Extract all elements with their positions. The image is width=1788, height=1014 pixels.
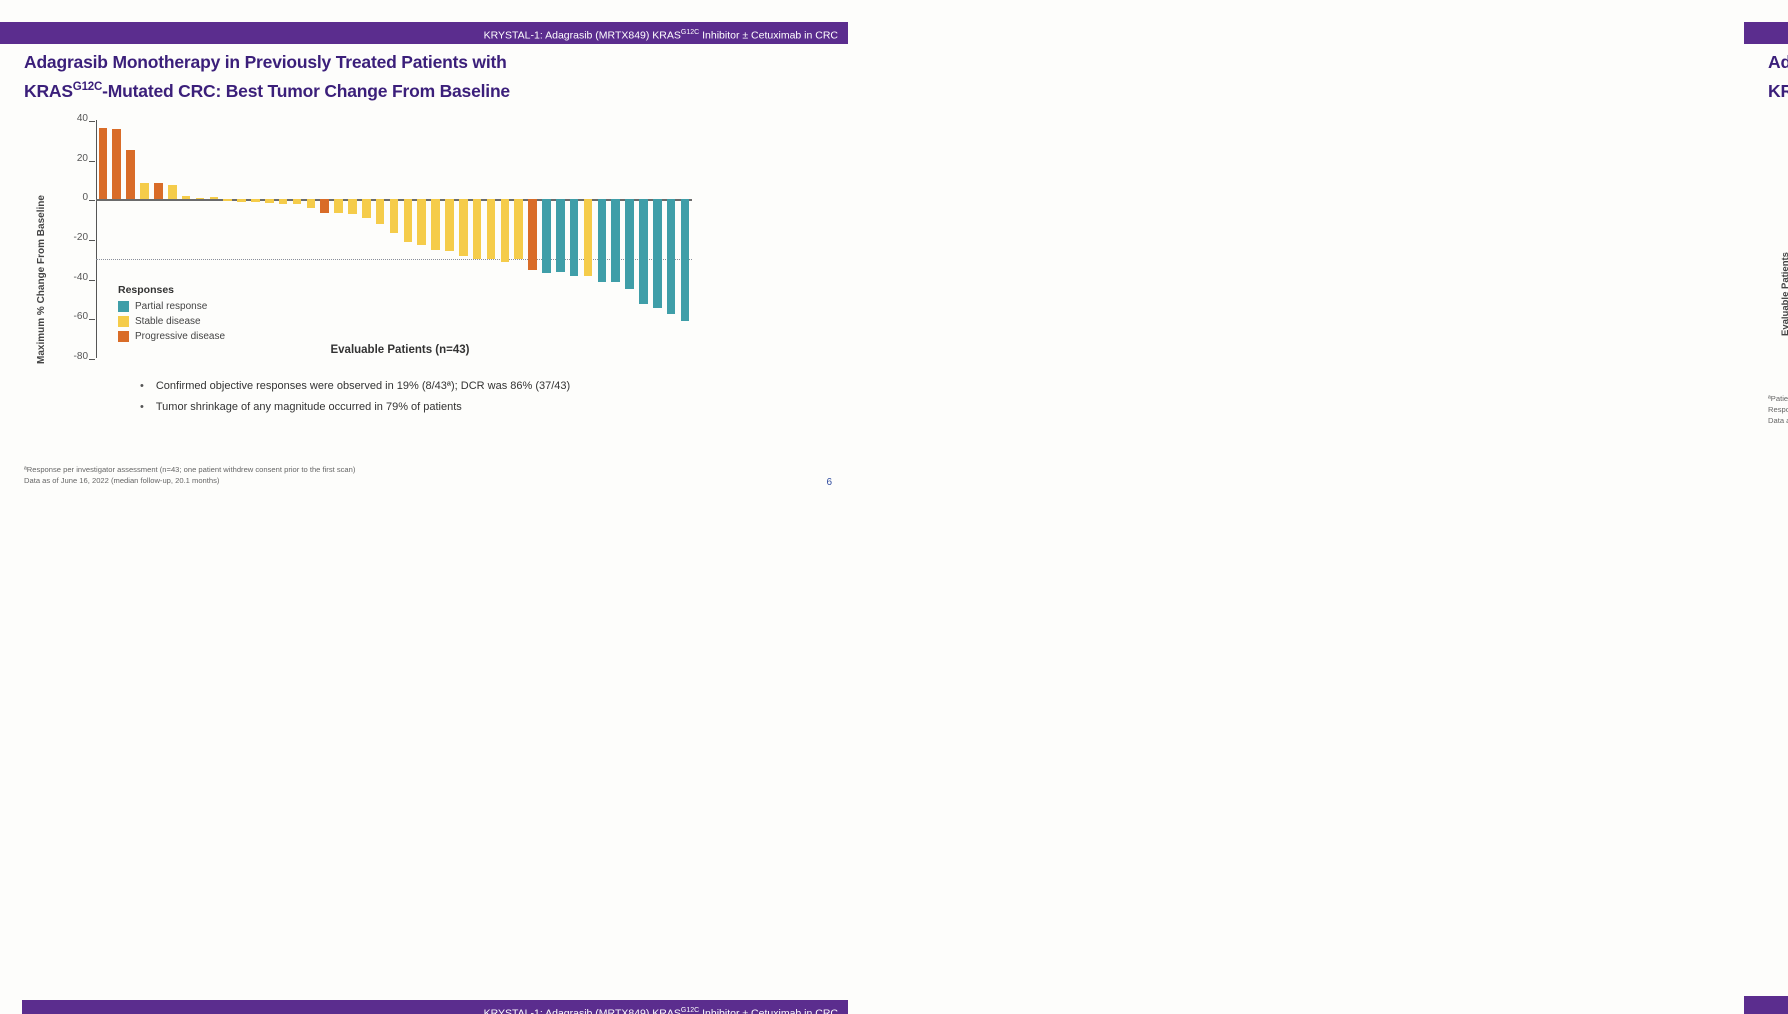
waterfall-bar [598, 199, 607, 282]
swimmer-row [1780, 177, 1788, 183]
swimmer-row [1780, 236, 1788, 242]
waterfall-bar [528, 199, 537, 269]
swimmer-row [1780, 228, 1788, 234]
waterfall-bar [473, 199, 482, 259]
waterfall-bar [307, 199, 316, 208]
swimmer-plot: Evaluable Patients 03691215182124 [1780, 106, 1788, 386]
waterfall-bar [487, 199, 496, 259]
swimmer-row [1780, 169, 1788, 175]
waterfall-bar [570, 199, 579, 275]
swimmer-row [1780, 251, 1788, 257]
slide-panel-10: KRYSTAL-1: Adagrasib (MRTX849) KRASG12C … [0, 500, 866, 1014]
waterfall-bar [168, 185, 177, 199]
title-line-2: KRASG12C-Mutated CRC: Best Tumor Change … [24, 75, 828, 104]
slide-10-banner: KRYSTAL-1: Adagrasib (MRTX849) KRASG12C … [22, 1000, 848, 1014]
evaluable-patients-label-mono: Evaluable Patients (n=43) [230, 344, 570, 356]
waterfall-bar [362, 199, 371, 217]
swimmer-row [1780, 147, 1788, 153]
swimmer-row [1780, 265, 1788, 271]
bullets-mono: Confirmed objective responses were obser… [140, 380, 760, 422]
swimmer-row [1780, 273, 1788, 279]
waterfall-bar [126, 150, 135, 200]
swimmer-row [1780, 199, 1788, 205]
swimmer-row [1780, 154, 1788, 160]
legend-responses-mono: Responses Partial responseStable disease… [118, 284, 225, 346]
bullet-item: Tumor shrinkage of any magnitude occurre… [140, 401, 760, 413]
legend-swatch [118, 316, 129, 327]
title-line-2: KRASG12C-Mutated CRC: Duration of Treatm… [1768, 75, 1788, 104]
y-tick-label: -20 [56, 232, 88, 243]
waterfall-bar [140, 183, 149, 199]
y-tick-label: 20 [56, 153, 88, 164]
swimmer-row [1780, 310, 1788, 316]
waterfall-chart-mono: Maximum % Change From Baseline 40200-20-… [0, 114, 760, 374]
waterfall-bar [154, 183, 163, 199]
banner-suffix: Inhibitor ± Cetuximab in CRC [699, 1008, 838, 1014]
slide-7-banner: KRYSTAL-1: Adagrasib (MRTX849) KRASG12C … [1744, 22, 1788, 44]
swimmer-row [1780, 339, 1788, 345]
title-rest: -Mutated CRC: Best Tumor Change From Bas… [102, 81, 510, 101]
waterfall-bar [279, 199, 288, 203]
waterfall-bar [639, 199, 648, 304]
y-axis-label: Maximum % Change From Baseline [36, 195, 47, 364]
y-tick-label: -40 [56, 272, 88, 283]
waterfall-bar [667, 199, 676, 314]
slide-6-title: Adagrasib Monotherapy in Previously Trea… [24, 50, 828, 104]
slide-6-footnote: ªResponse per investigator assessment (n… [24, 464, 355, 486]
swimmer-row [1780, 302, 1788, 308]
waterfall-bar [681, 199, 690, 321]
slide-12-banner: KRYSTAL-1: Adagrasib (MRTX849) KRASG12C … [1744, 996, 1788, 1014]
waterfall-bar [182, 196, 191, 199]
waterfall-bar [251, 199, 260, 202]
waterfall-bar [542, 199, 551, 272]
legend-label: Partial response [135, 301, 207, 312]
legend-item: Stable disease [118, 316, 225, 327]
waterfall-bar [334, 199, 343, 213]
waterfall-bar [417, 199, 426, 245]
title-line-1: Adagrasib Monotherapy in Previously Trea… [24, 50, 828, 75]
bullet-text: Tumor shrinkage of any magnitude occurre… [156, 401, 462, 413]
swimmer-row [1780, 125, 1788, 131]
waterfall-bar [431, 199, 440, 250]
waterfall-bar [459, 199, 468, 256]
title-line-1: Adagrasib Monotherapy in Previously Trea… [1768, 50, 1788, 75]
swimmer-row [1780, 110, 1788, 116]
slide-panel-12: KRYSTAL-1: Adagrasib (MRTX849) KRASG12C … [866, 500, 1788, 1014]
waterfall-bar [348, 199, 357, 214]
waterfall-bar [99, 128, 108, 200]
waterfall-bar [293, 199, 302, 204]
slide-panel-6: KRYSTAL-1: Adagrasib (MRTX849) KRASG12C … [0, 0, 866, 500]
waterfall-bar [210, 197, 219, 199]
slide-12-body: KRYSTAL-1: Adagrasib (MRTX849) KRASG12C … [1744, 996, 1788, 1014]
waterfall-bar [223, 199, 232, 201]
swimmer-row [1780, 132, 1788, 138]
banner-suffix: Inhibitor ± Cetuximab in CRC [699, 30, 838, 42]
waterfall-bar [611, 199, 620, 281]
swimmer-row [1780, 288, 1788, 294]
swimmer-row [1780, 325, 1788, 331]
legend-title: Responses [118, 284, 225, 296]
legend-item: Partial response [118, 301, 225, 312]
swimmer-row [1780, 221, 1788, 227]
slide-6-banner: KRYSTAL-1: Adagrasib (MRTX849) KRASG12C … [0, 22, 848, 44]
waterfall-bar [404, 199, 413, 242]
waterfall-bar [237, 199, 246, 201]
swimmer-row [1780, 295, 1788, 301]
bullet-text: Confirmed objective responses were obser… [156, 380, 570, 392]
legend-swatch [118, 331, 129, 342]
slide-6-body: KRYSTAL-1: Adagrasib (MRTX849) KRASG12C … [0, 22, 848, 494]
bullet-item: Confirmed objective responses were obser… [140, 380, 760, 392]
slide-10-body: KRYSTAL-1: Adagrasib (MRTX849) KRASG12C … [22, 1000, 848, 1014]
legend-label: Stable disease [135, 316, 201, 327]
swimmer-row [1780, 191, 1788, 197]
y-tick-label: 0 [56, 192, 88, 203]
slide-6-page-number: 6 [826, 477, 832, 488]
title-kras: KRAS [24, 81, 73, 101]
swimmer-row [1780, 280, 1788, 286]
waterfall-bar [196, 198, 205, 200]
slide-grid: KRYSTAL-1: Adagrasib (MRTX849) KRASG12C … [0, 0, 1788, 1014]
waterfall-bar [584, 199, 593, 275]
legend-swatch [118, 301, 129, 312]
y-axis-line [96, 120, 97, 358]
waterfall-bar [653, 199, 662, 308]
title-kras: KRAS [1768, 81, 1788, 101]
waterfall-bar [265, 199, 274, 203]
swimmer-row [1780, 206, 1788, 212]
swimmer-row [1780, 140, 1788, 146]
waterfall-bar [390, 199, 399, 232]
banner-sup: G12C [681, 1007, 699, 1014]
y-tick-label: 40 [56, 113, 88, 124]
swimmer-row [1780, 117, 1788, 123]
legend-items: Partial responseStable diseaseProgressiv… [118, 301, 225, 342]
waterfall-bar [112, 129, 121, 199]
title-sup: G12C [73, 81, 102, 93]
slide-7-footnote: ªPatients who crossed over to receive ad… [1768, 393, 1788, 426]
waterfall-bar [514, 199, 523, 259]
swimmer-row [1780, 258, 1788, 264]
waterfall-bar [625, 199, 634, 288]
legend-item: Progressive disease [118, 331, 225, 342]
waterfall-bar [556, 199, 565, 271]
waterfall-bar [445, 199, 454, 251]
y-tick-label: -80 [56, 351, 88, 362]
slide-7-title: Adagrasib Monotherapy in Previously Trea… [1768, 50, 1788, 104]
banner-prefix: KRYSTAL-1: Adagrasib (MRTX849) KRAS [484, 1008, 681, 1014]
swimmer-row [1780, 332, 1788, 338]
swimmer-row [1780, 243, 1788, 249]
slide-7-body: KRYSTAL-1: Adagrasib (MRTX849) KRASG12C … [1744, 22, 1788, 434]
banner-prefix: KRYSTAL-1: Adagrasib (MRTX849) KRAS [484, 30, 681, 42]
waterfall-bar [501, 199, 510, 261]
swimmer-row [1780, 162, 1788, 168]
waterfall-bar [320, 199, 329, 213]
waterfall-bar [376, 199, 385, 224]
swimmer-row [1780, 184, 1788, 190]
y-tick-label: -60 [56, 311, 88, 322]
swimmer-row [1780, 214, 1788, 220]
slide-panel-7: KRYSTAL-1: Adagrasib (MRTX849) KRASG12C … [866, 0, 1788, 500]
legend-label: Progressive disease [135, 331, 225, 342]
swimmer-row [1780, 317, 1788, 323]
banner-sup: G12C [681, 29, 699, 36]
